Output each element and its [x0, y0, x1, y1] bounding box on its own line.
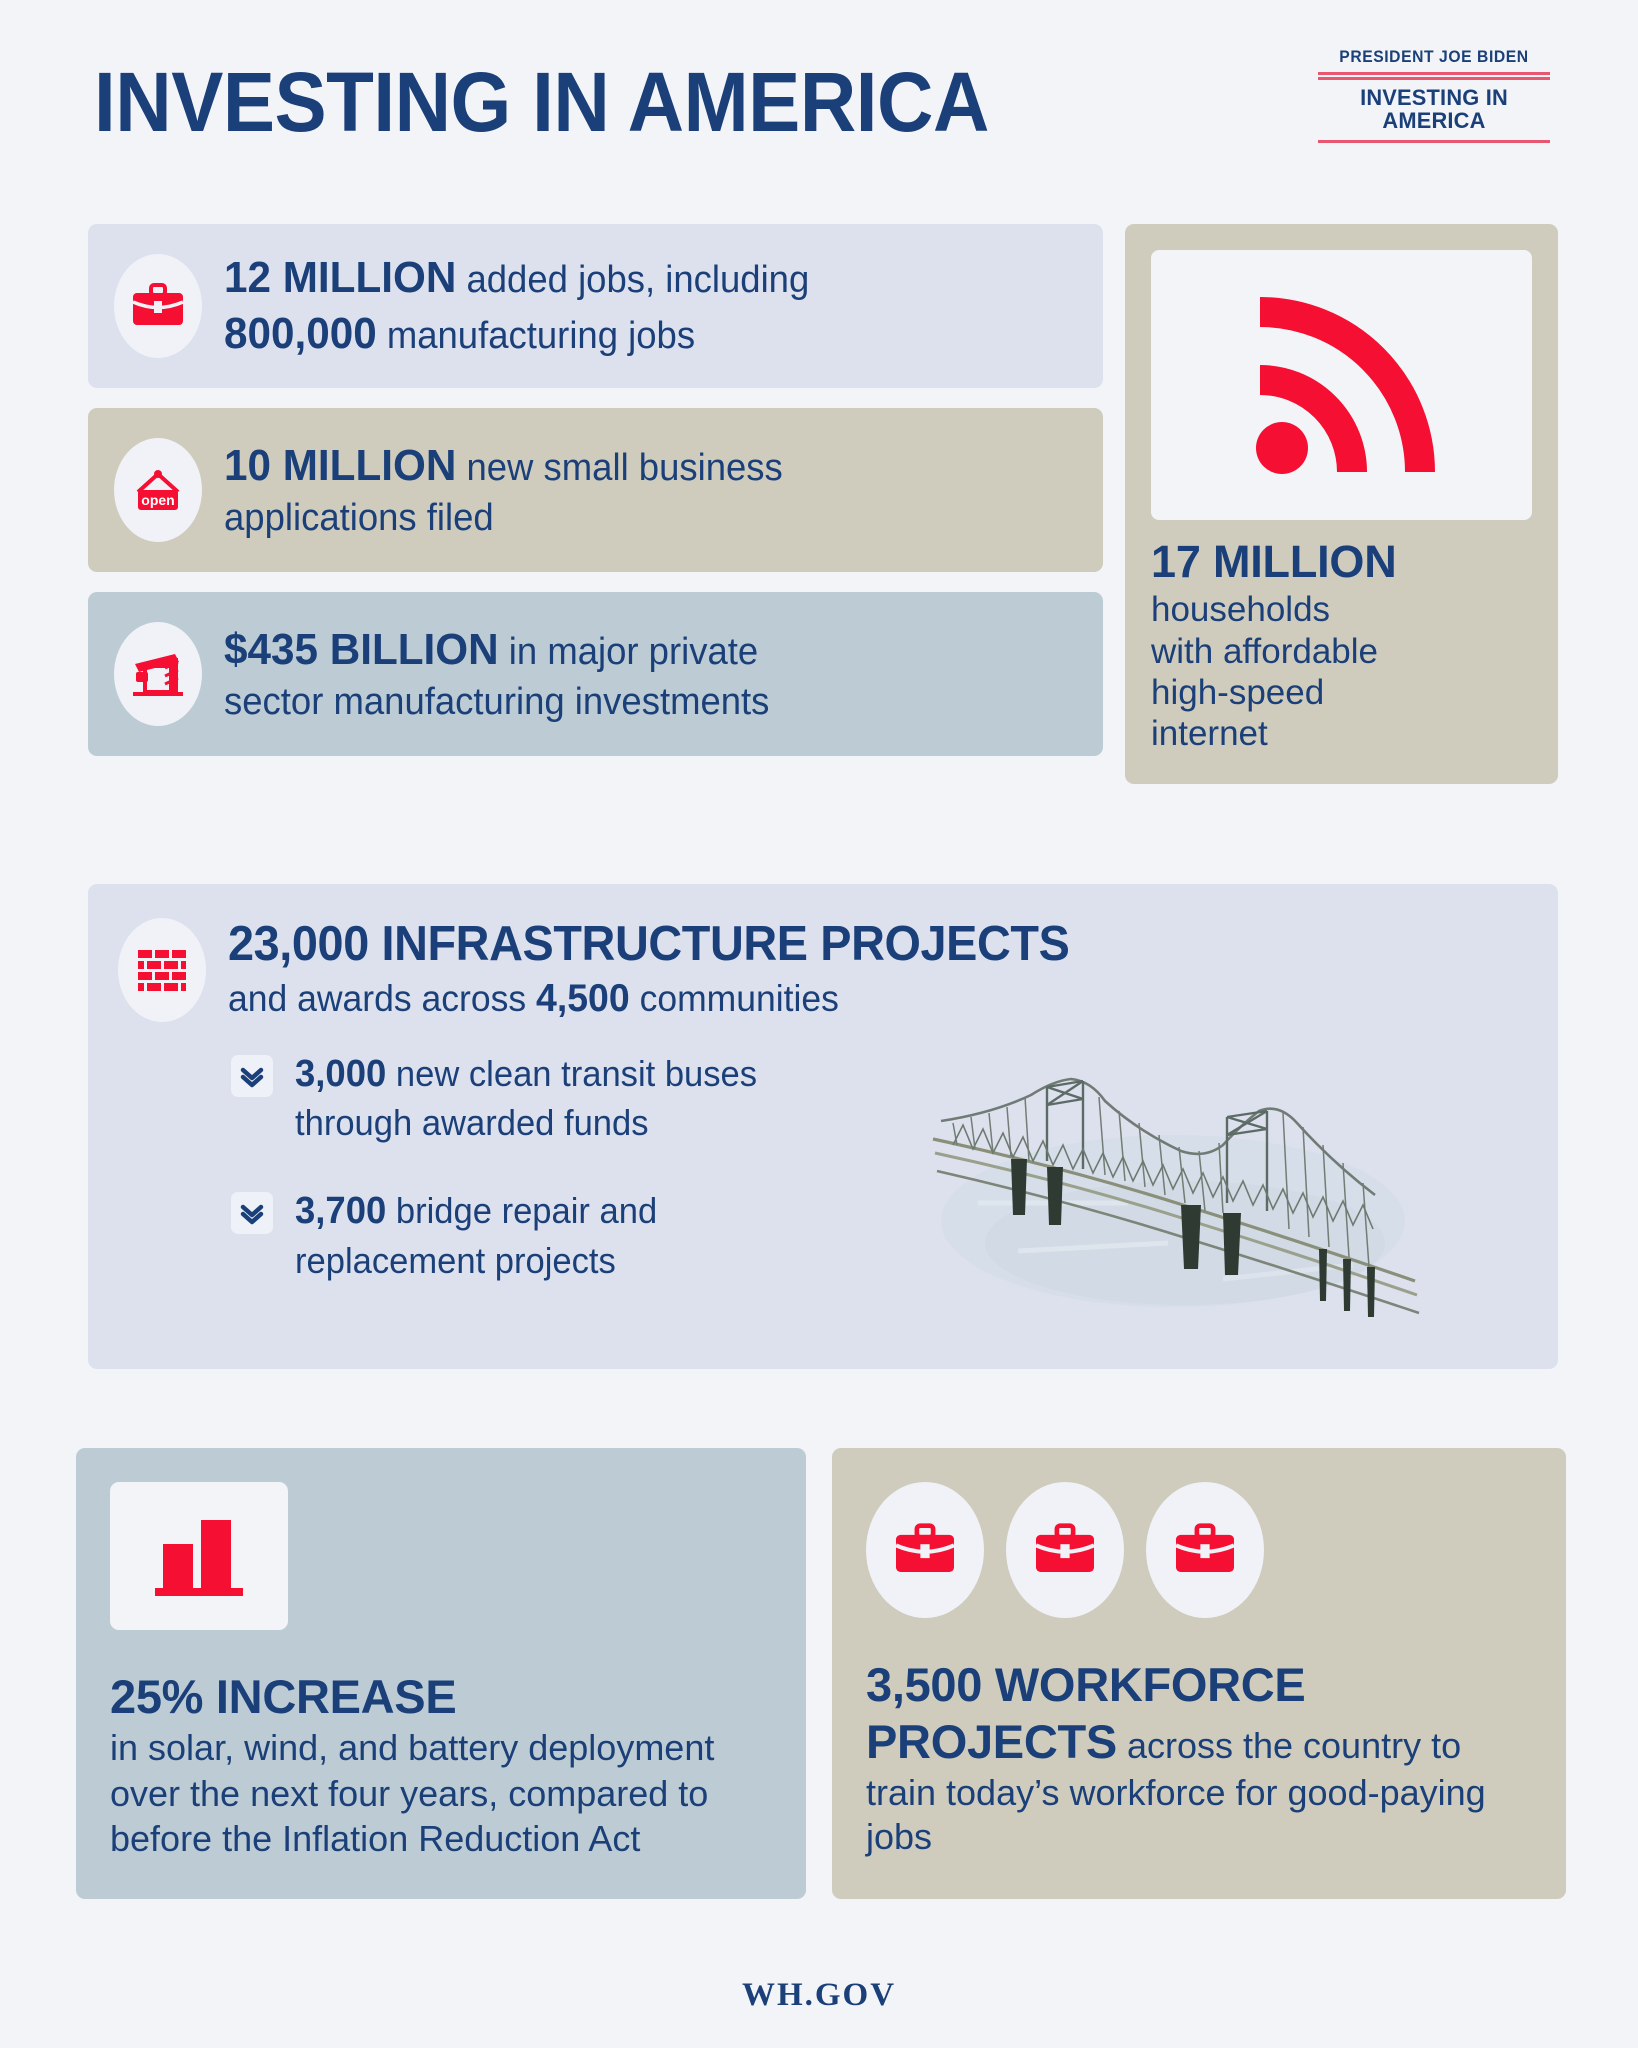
infrastructure-card: 23,000 INFRASTRUCTURE PROJECTS and award…	[88, 884, 1558, 1369]
infrastructure-header: 23,000 INFRASTRUCTURE PROJECTS and award…	[118, 918, 1528, 1023]
internet-body-line-2: with affordable	[1151, 631, 1532, 672]
bar-chart-icon	[110, 1482, 288, 1630]
stat-bold-2: 800,000	[224, 309, 377, 358]
logo-stripes-top	[1318, 72, 1550, 80]
stat-bold-1: $435 BILLION	[224, 625, 499, 674]
stat-card-jobs: 12 MILLION added jobs, including 800,000…	[88, 224, 1103, 388]
briefcase-icon	[1146, 1482, 1264, 1618]
infrastructure-subtitle: and awards across 4,500 communities	[228, 976, 1074, 1023]
internet-body-line-3: high-speed	[1151, 672, 1532, 713]
briefcase-icon	[1006, 1482, 1124, 1618]
top-statistics-grid: 12 MILLION added jobs, including 800,000…	[88, 224, 1558, 784]
internet-body-line-1: households	[1151, 589, 1532, 630]
stat-bold-1: 10 MILLION	[224, 441, 456, 490]
briefcase-icon	[866, 1482, 984, 1618]
stat-text-manufacturing-investment: $435 BILLION in major private sector man…	[224, 622, 769, 727]
wifi-signal-icon	[1151, 250, 1532, 520]
internet-body-line-4: internet	[1151, 713, 1532, 754]
stat-text-small-business: 10 MILLION new small business applicatio…	[224, 438, 783, 543]
open-sign-icon: open	[114, 438, 202, 542]
internet-headline: 17 MILLION	[1151, 538, 1532, 585]
logo-brand-line-2: AMERICA	[1321, 109, 1546, 133]
list-item: 3,000 new clean transit buses through aw…	[231, 1049, 818, 1147]
stat-bold-1: 12 MILLION	[224, 253, 456, 302]
logo-brand-line: INVESTING IN AMERICA	[1321, 86, 1546, 134]
bullet-line2: through awarded funds	[295, 1102, 649, 1143]
header: INVESTING IN AMERICA PRESIDENT JOE BIDEN…	[0, 0, 1638, 170]
stat-rest-1: in major private	[499, 631, 759, 673]
page-title: INVESTING IN AMERICA	[94, 60, 989, 144]
bottom-statistics-grid: 25% INCREASE in solar, wind, and battery…	[76, 1448, 1566, 1899]
stat-card-manufacturing-investment: $435 BILLION in major private sector man…	[88, 592, 1103, 756]
logo-president-line: PRESIDENT JOE BIDEN	[1324, 48, 1544, 67]
stat-rest-1: added jobs, including	[456, 259, 809, 301]
briefcase-icon	[114, 254, 202, 358]
stat-card-internet: 17 MILLION households with affordable hi…	[1125, 224, 1558, 784]
clean-energy-body: in solar, wind, and battery deployment o…	[110, 1725, 772, 1861]
bullet-text: 3,000 new clean transit buses through aw…	[295, 1049, 757, 1147]
bullet-bold: 3,000	[295, 1053, 386, 1095]
bullet-text: 3,700 bridge repair and replacement proj…	[295, 1186, 657, 1284]
clean-energy-headline: 25% INCREASE	[110, 1672, 772, 1721]
brick-wall-icon	[118, 918, 206, 1022]
bridge-illustration	[818, 1049, 1528, 1333]
bullet-bold: 3,700	[295, 1190, 386, 1232]
stat-rest-2: applications filed	[224, 497, 494, 539]
internet-body: households with affordable high-speed in…	[1151, 589, 1532, 754]
briefcase-icon-row	[866, 1482, 1532, 1618]
svg-text:open: open	[141, 492, 174, 508]
infrastructure-heading-block: 23,000 INFRASTRUCTURE PROJECTS and award…	[228, 918, 1109, 1023]
double-chevron-check-icon	[231, 1055, 273, 1097]
infra-sub-post: communities	[630, 978, 839, 1019]
bullet-line2: replacement projects	[295, 1240, 616, 1281]
stat-rest-2: manufacturing jobs	[377, 315, 695, 357]
stat-card-clean-energy: 25% INCREASE in solar, wind, and battery…	[76, 1448, 806, 1899]
infra-sub-bold: 4,500	[536, 977, 630, 1020]
infrastructure-body: 3,000 new clean transit buses through aw…	[118, 1049, 1528, 1333]
list-item: 3,700 bridge repair and replacement proj…	[231, 1186, 818, 1284]
crane-factory-icon	[114, 622, 202, 726]
bullet-rest: bridge repair and	[386, 1190, 657, 1231]
stat-rows-column: 12 MILLION added jobs, including 800,000…	[88, 224, 1103, 784]
stat-rest-1: new small business	[456, 447, 782, 489]
stat-rest-2: sector manufacturing investments	[224, 681, 769, 723]
investing-in-america-logo: PRESIDENT JOE BIDEN INVESTING IN AMERICA	[1318, 48, 1550, 143]
stat-card-small-business: open 10 MILLION new small business appli…	[88, 408, 1103, 572]
workforce-text: 3,500 WORKFORCE PROJECTS across the coun…	[866, 1656, 1532, 1858]
stat-card-workforce: 3,500 WORKFORCE PROJECTS across the coun…	[832, 1448, 1566, 1899]
double-chevron-check-icon	[231, 1192, 273, 1234]
infrastructure-title: 23,000 INFRASTRUCTURE PROJECTS	[228, 918, 1069, 971]
infrastructure-bullet-list: 3,000 new clean transit buses through aw…	[118, 1049, 818, 1333]
logo-brand-line-1: INVESTING IN	[1321, 86, 1546, 110]
infographic-page: INVESTING IN AMERICA PRESIDENT JOE BIDEN…	[0, 0, 1638, 2048]
logo-stripes-bottom	[1318, 140, 1550, 143]
footer-wh-gov: WH.GOV	[0, 1977, 1638, 2014]
bullet-rest: new clean transit buses	[386, 1053, 757, 1094]
stat-text-jobs: 12 MILLION added jobs, including 800,000…	[224, 250, 809, 363]
infra-sub-pre: and awards across	[228, 978, 536, 1019]
